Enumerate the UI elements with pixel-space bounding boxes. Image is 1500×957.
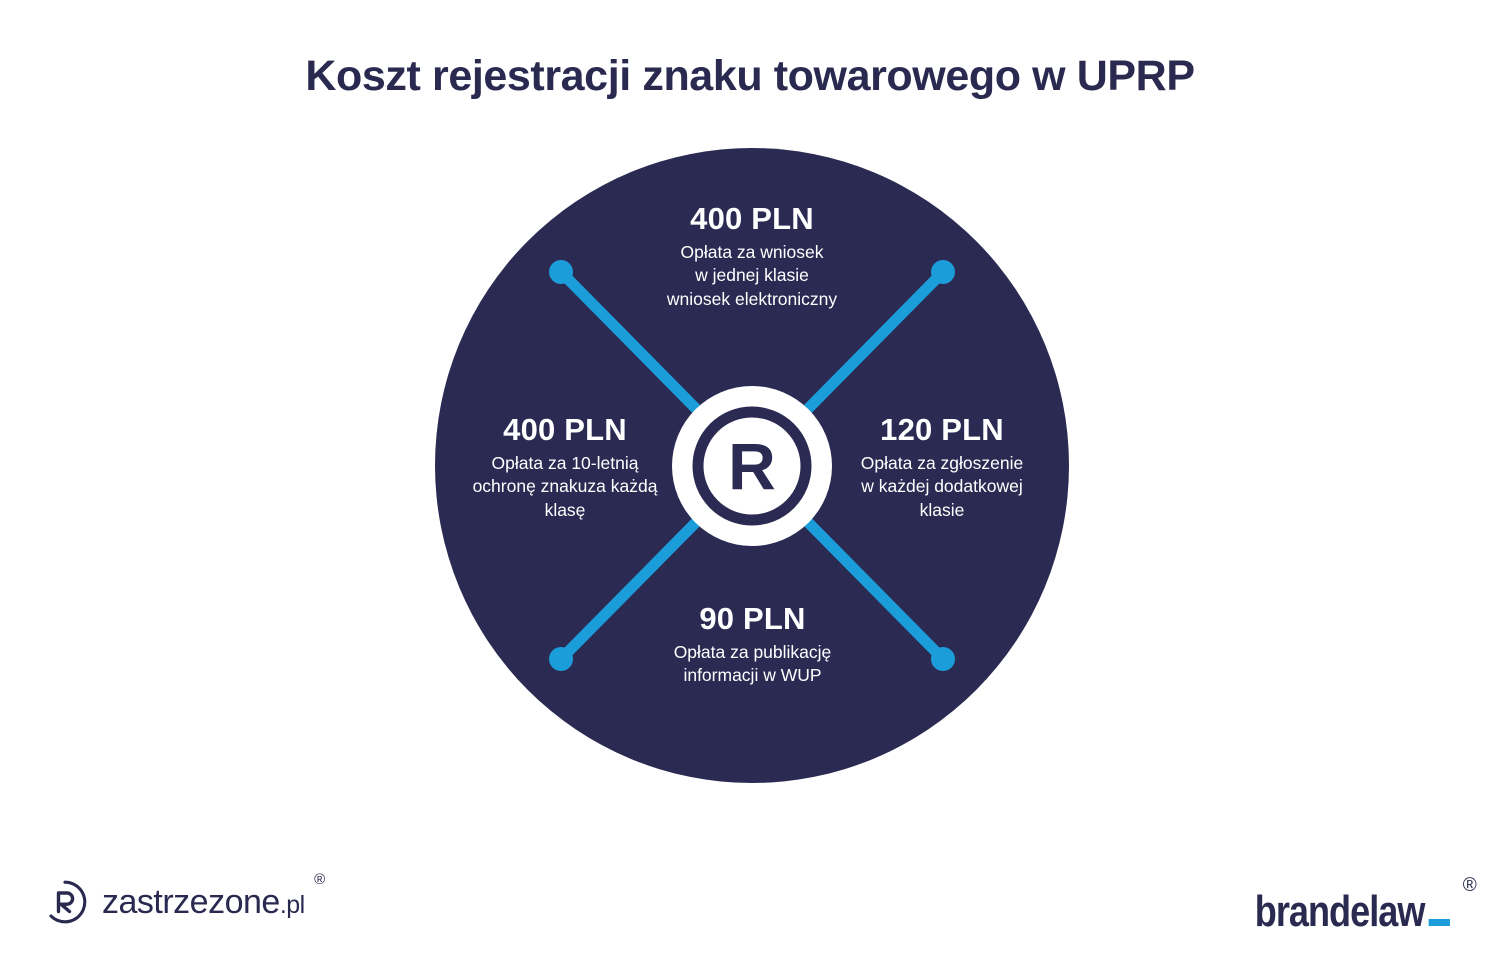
zastrzezone-r-circle-icon (42, 879, 88, 925)
quadrant-right: 120 PLN Opłata za zgłoszenie w każdej do… (792, 414, 1092, 522)
quadrant-bottom-amount: 90 PLN (530, 603, 975, 634)
svg-text:R: R (728, 429, 776, 503)
quadrant-left-desc-line1: Opłata za 10-letnią (415, 452, 715, 475)
quadrant-right-desc-line3: klasie (792, 499, 1092, 522)
quadrant-bottom-description: Opłata za publikację informacji w WUP (530, 641, 975, 688)
quadrant-left-desc-line2: ochronę znakuza każdą (415, 475, 715, 498)
brandelaw-name: brandelaw (1255, 887, 1425, 936)
quadrant-top-desc-line3: wniosek elektroniczny (512, 288, 992, 311)
quadrant-right-desc-line2: w każdej dodatkowej (792, 475, 1092, 498)
brandelaw-cursor-icon (1429, 919, 1450, 926)
quadrant-left-description: Opłata za 10-letnią ochronę znakuza każd… (415, 452, 715, 522)
quadrant-bottom-desc-line2: informacji w WUP (530, 664, 975, 687)
quadrant-left: 400 PLN Opłata za 10-letnią ochronę znak… (415, 414, 715, 522)
quadrant-right-desc-line1: Opłata za zgłoszenie (792, 452, 1092, 475)
quadrant-right-amount: 120 PLN (792, 414, 1092, 445)
quadrant-top-desc-line1: Opłata za wniosek (512, 241, 992, 264)
quadrant-top-desc-line2: w jednej klasie (512, 264, 992, 287)
zastrzezone-tld: .pl (280, 891, 305, 919)
quadrant-bottom: 90 PLN Opłata za publikację informacji w… (530, 603, 975, 688)
quadrant-top: 400 PLN Opłata za wniosek w jednej klasi… (512, 203, 992, 311)
quadrant-right-description: Opłata za zgłoszenie w każdej dodatkowej… (792, 452, 1092, 522)
brandelaw-wordmark: brandelaw® (1255, 890, 1450, 934)
quadrant-top-description: Opłata za wniosek w jednej klasie wniose… (512, 241, 992, 311)
page-title: Koszt rejestracji znaku towarowego w UPR… (0, 52, 1500, 101)
zastrzezone-logo[interactable]: zastrzezone.pl® (42, 872, 305, 932)
zastrzezone-wordmark: zastrzezone.pl® (102, 883, 305, 922)
infographic-wheel: R 400 PLN Opłata za wniosek w jednej kla… (435, 148, 1069, 783)
quadrant-left-desc-line3: klasę (415, 499, 715, 522)
quadrant-bottom-desc-line1: Opłata za publikację (530, 641, 975, 664)
quadrant-left-amount: 400 PLN (415, 414, 715, 445)
zastrzezone-name: zastrzezone (102, 883, 280, 921)
registered-mark-icon: ® (1463, 876, 1476, 895)
quadrant-top-amount: 400 PLN (512, 203, 992, 234)
registered-mark-icon: ® (314, 871, 325, 888)
brandelaw-logo[interactable]: brandelaw® (1212, 874, 1450, 934)
